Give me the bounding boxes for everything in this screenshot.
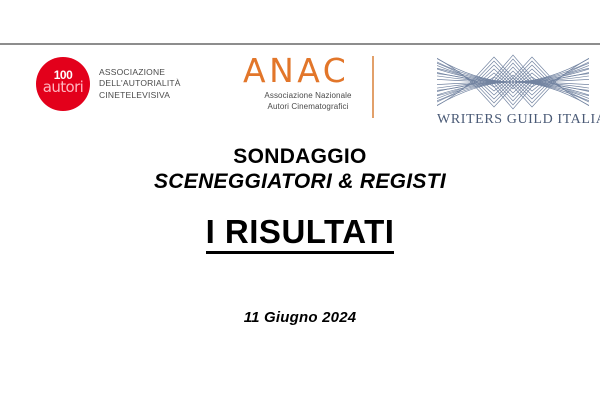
- slide-title-block: SONDAGGIO SCENEGGIATORI & REGISTI: [0, 144, 600, 195]
- anac-wordmark-row: ANAC: [243, 54, 393, 88]
- 100autori-logo: 100 autori ASSOCIAZIONE DELL'AUTORIALITÀ…: [36, 57, 181, 111]
- header-divider-rule: [0, 43, 600, 45]
- 100autori-caption-line-3: CINETELEVISIVA: [99, 90, 181, 101]
- anac-wordmark: ANAC: [243, 54, 349, 88]
- results-heading: I RISULTATI: [0, 214, 600, 254]
- anac-subtitle: Associazione Nazionale Autori Cinematogr…: [248, 91, 368, 112]
- wgi-wordmark: WRITERS GUILD ITALIA: [437, 112, 589, 128]
- presentation-slide: 100 autori ASSOCIAZIONE DELL'AUTORIALITÀ…: [0, 0, 600, 400]
- 100autori-caption-line-2: DELL'AUTORIALITÀ: [99, 78, 181, 89]
- slide-date: 11 Giugno 2024: [0, 309, 600, 326]
- anac-subtitle-line-2: Autori Cinematografici: [248, 102, 368, 113]
- 100autori-wordmark: autori: [36, 79, 90, 95]
- 100autori-caption-line-1: ASSOCIAZIONE: [99, 67, 181, 78]
- slide-title-primary: SONDAGGIO: [0, 144, 600, 169]
- slide-title-secondary: SCENEGGIATORI & REGISTI: [0, 169, 600, 195]
- anac-logo: ANAC Associazione Nazionale Autori Cinem…: [243, 54, 393, 112]
- wgi-wave-emblem-icon: [437, 53, 589, 111]
- 100autori-caption: ASSOCIAZIONE DELL'AUTORIALITÀ CINETELEVI…: [99, 67, 181, 101]
- results-heading-text: I RISULTATI: [206, 214, 395, 254]
- writers-guild-italia-logo: WRITERS GUILD ITALIA: [437, 53, 589, 128]
- anac-vertical-rule: [372, 56, 374, 118]
- logo-band: 100 autori ASSOCIAZIONE DELL'AUTORIALITÀ…: [0, 50, 600, 142]
- anac-subtitle-line-1: Associazione Nazionale: [248, 91, 368, 102]
- 100autori-circle-mark: 100 autori: [36, 57, 90, 111]
